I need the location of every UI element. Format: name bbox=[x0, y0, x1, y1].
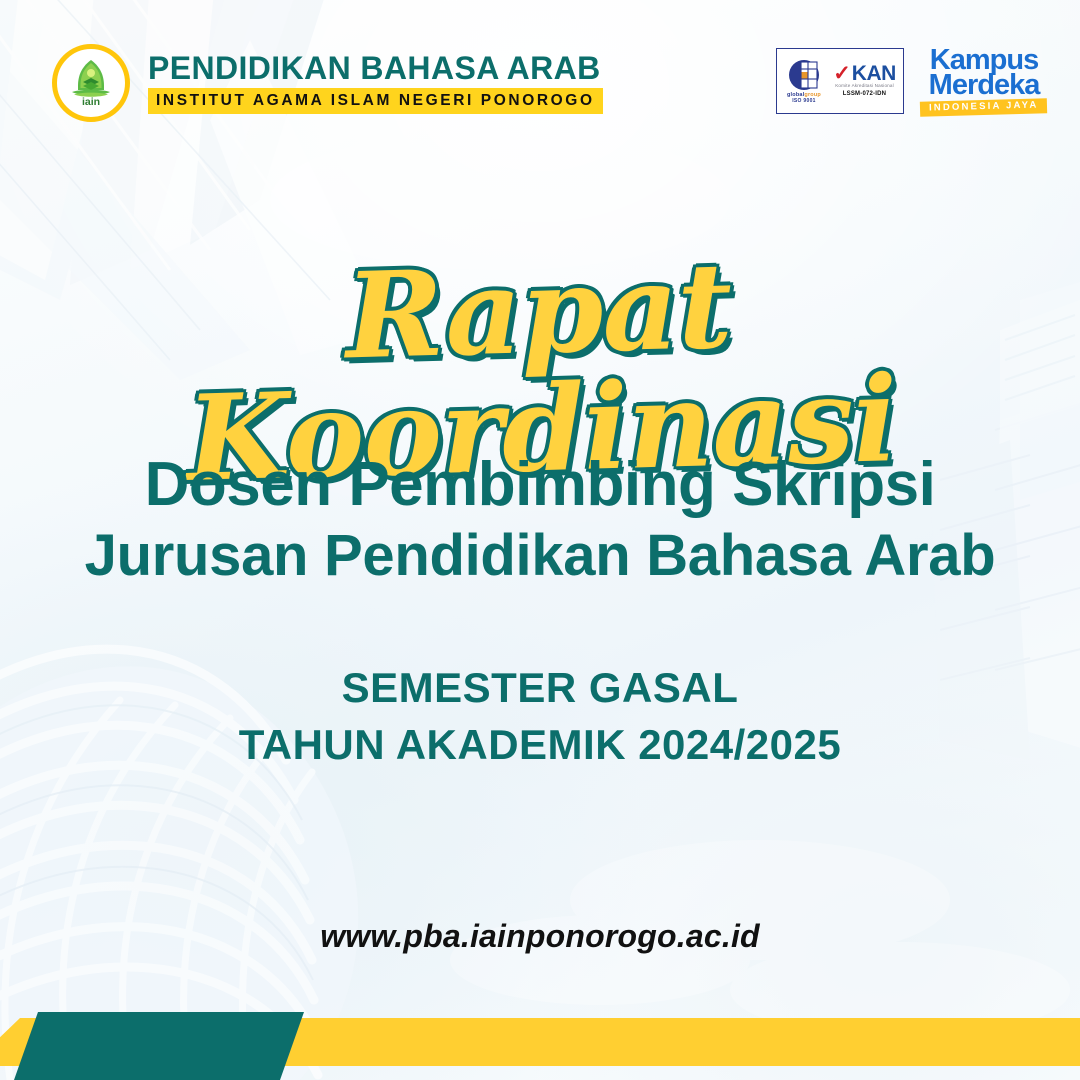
semester-block: SEMESTER GASAL TAHUN AKADEMIK 2024/2025 bbox=[0, 660, 1080, 773]
kan-label: KAN bbox=[852, 65, 896, 83]
kampus-merdeka-line2: Merdeka bbox=[929, 73, 1040, 98]
kan-iso-badge: globalgroup ISO 9001 ✓ KAN Komite Akredi… bbox=[776, 48, 904, 114]
header-text-block: PENDIDIKAN BAHASA ARAB INSTITUT AGAMA IS… bbox=[148, 52, 603, 115]
semester-line-2: TAHUN AKADEMIK 2024/2025 bbox=[0, 717, 1080, 774]
kan-mark: ✓ KAN Komite Akreditasi Nasional LSSM-07… bbox=[830, 65, 899, 96]
org-title: PENDIDIKAN BAHASA ARAB bbox=[148, 52, 603, 84]
red-check-icon: ✓ bbox=[833, 66, 851, 83]
heading-line-2: Jurusan Pendidikan Bahasa Arab bbox=[0, 524, 1080, 588]
global-group-mark: globalgroup ISO 9001 bbox=[781, 58, 827, 105]
heading-line-1: Dosen Pembimbing Skripsi bbox=[0, 452, 1080, 518]
iain-shield-logo-icon: iain bbox=[64, 56, 118, 110]
bottom-teal-shape bbox=[14, 1012, 304, 1080]
kan-subtitle: Komite Akreditasi Nasional bbox=[835, 84, 894, 89]
kan-wordmark: ✓ KAN bbox=[833, 65, 896, 83]
accreditation-badges: globalgroup ISO 9001 ✓ KAN Komite Akredi… bbox=[776, 48, 1046, 114]
poster-header: iain PENDIDIKAN BAHASA ARAB INSTITUT AGA… bbox=[52, 44, 603, 122]
org-subtitle: INSTITUT AGAMA ISLAM NEGERI PONOROGO bbox=[148, 88, 603, 115]
iso-label: ISO 9001 bbox=[792, 99, 816, 104]
kampus-merdeka-ribbon: INDONESIA JAYA bbox=[920, 98, 1048, 116]
kan-code: LSSM-072-IDN bbox=[843, 91, 886, 97]
svg-text:iain: iain bbox=[82, 96, 100, 108]
website-url: www.pba.iainponorogo.ac.id bbox=[0, 918, 1080, 955]
kampus-merdeka-logo: Kampus Merdeka INDONESIA JAYA bbox=[922, 48, 1046, 114]
iain-logo: iain bbox=[52, 44, 130, 122]
kampus-merdeka-wordmark: Kampus Merdeka bbox=[929, 48, 1040, 98]
main-heading-block: Dosen Pembimbing Skripsi Jurusan Pendidi… bbox=[0, 452, 1080, 588]
poster-canvas: iain PENDIDIKAN BAHASA ARAB INSTITUT AGA… bbox=[0, 0, 1080, 1080]
semester-line-1: SEMESTER GASAL bbox=[0, 660, 1080, 717]
global-group-icon bbox=[787, 58, 821, 92]
